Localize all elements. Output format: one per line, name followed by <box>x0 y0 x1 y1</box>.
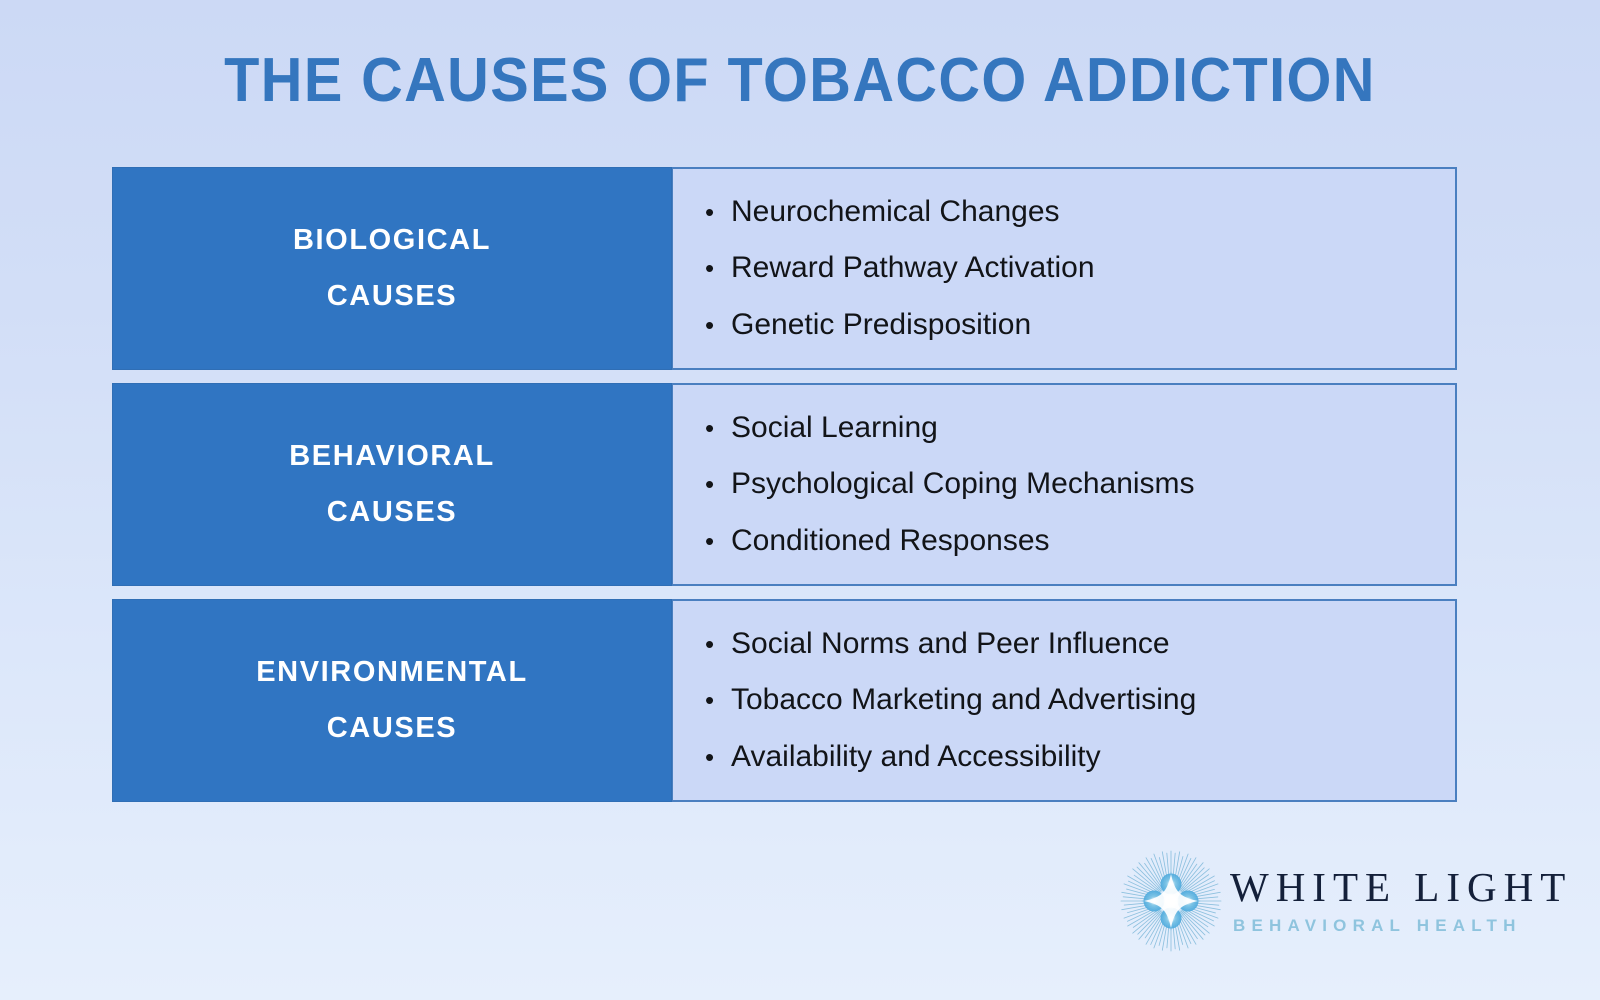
list-item: • Availability and Accessibility <box>705 729 1435 785</box>
category-cell-behavioral: BEHAVIORAL CAUSES <box>112 383 672 586</box>
list-item-label: Availability and Accessibility <box>731 729 1101 785</box>
list-item: • Neurochemical Changes <box>705 184 1435 240</box>
bullet-icon: • <box>705 744 731 770</box>
starburst-icon <box>1118 848 1224 954</box>
category-label-line1: ENVIRONMENTAL <box>256 645 528 700</box>
category-label-line1: BIOLOGICAL <box>293 213 491 268</box>
page-title: THE CAUSES OF TOBACCO ADDICTION <box>56 48 1544 113</box>
list-item: • Social Norms and Peer Influence <box>705 616 1435 672</box>
bullet-icon: • <box>705 631 731 657</box>
list-item: • Conditioned Responses <box>705 513 1435 569</box>
logo-tagline: BEHAVIORAL HEALTH <box>1233 916 1572 936</box>
category-cell-environmental: ENVIRONMENTAL CAUSES <box>112 599 672 802</box>
items-cell-biological: • Neurochemical Changes • Reward Pathway… <box>672 167 1457 370</box>
list-item: • Genetic Predisposition <box>705 297 1435 353</box>
logo-name: WHITE LIGHT <box>1230 866 1572 909</box>
items-cell-behavioral: • Social Learning • Psychological Coping… <box>672 383 1457 586</box>
table-row: BIOLOGICAL CAUSES • Neurochemical Change… <box>112 167 1457 370</box>
logo-wordmark: WHITE LIGHT BEHAVIORAL HEALTH <box>1230 866 1572 936</box>
list-item: • Social Learning <box>705 400 1435 456</box>
list-item: • Reward Pathway Activation <box>705 240 1435 296</box>
items-cell-environmental: • Social Norms and Peer Influence • Toba… <box>672 599 1457 802</box>
list-item-label: Social Norms and Peer Influence <box>731 616 1170 672</box>
category-label-line2: CAUSES <box>327 485 457 540</box>
list-item-label: Reward Pathway Activation <box>731 240 1095 296</box>
list-item-label: Social Learning <box>731 400 938 456</box>
list-item-label: Neurochemical Changes <box>731 184 1060 240</box>
bullet-icon: • <box>705 415 731 441</box>
list-item-label: Psychological Coping Mechanisms <box>731 456 1195 512</box>
list-item: • Tobacco Marketing and Advertising <box>705 672 1435 728</box>
infographic-slide: THE CAUSES OF TOBACCO ADDICTION BIOLOGIC… <box>0 0 1600 1000</box>
list-item-label: Conditioned Responses <box>731 513 1050 569</box>
bullet-icon: • <box>705 528 731 554</box>
bullet-icon: • <box>705 199 731 225</box>
category-label-line2: CAUSES <box>327 701 457 756</box>
bullet-icon: • <box>705 471 731 497</box>
list-item: • Psychological Coping Mechanisms <box>705 456 1435 512</box>
list-item-label: Genetic Predisposition <box>731 297 1031 353</box>
table-row: BEHAVIORAL CAUSES • Social Learning • Ps… <box>112 383 1457 586</box>
bullet-icon: • <box>705 687 731 713</box>
category-label-line1: BEHAVIORAL <box>289 429 495 484</box>
category-label-line2: CAUSES <box>327 269 457 324</box>
category-cell-biological: BIOLOGICAL CAUSES <box>112 167 672 370</box>
bullet-icon: • <box>705 255 731 281</box>
causes-table: BIOLOGICAL CAUSES • Neurochemical Change… <box>112 167 1457 802</box>
bullet-icon: • <box>705 312 731 338</box>
brand-logo: WHITE LIGHT BEHAVIORAL HEALTH <box>1118 846 1538 956</box>
table-row: ENVIRONMENTAL CAUSES • Social Norms and … <box>112 599 1457 802</box>
list-item-label: Tobacco Marketing and Advertising <box>731 672 1196 728</box>
